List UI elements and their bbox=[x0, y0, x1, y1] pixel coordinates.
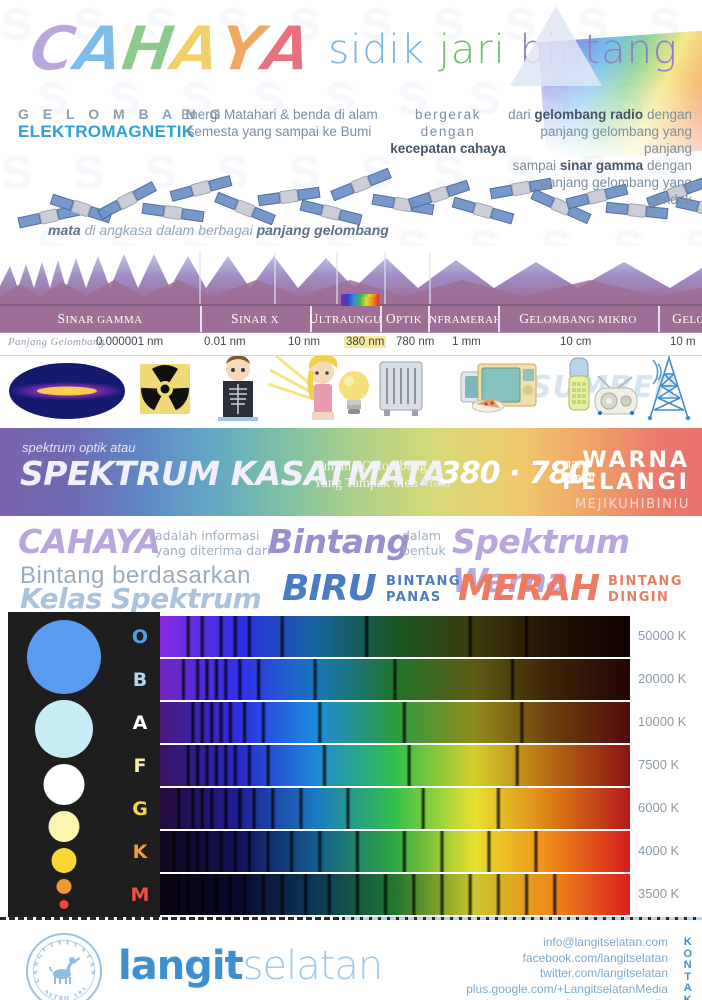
spectral-row-a[interactable]: 10000 K bbox=[160, 702, 630, 743]
seal-char: 1 bbox=[81, 986, 87, 992]
contact-link-0[interactable]: info@langitselatan.com bbox=[466, 935, 668, 951]
title-letter-a3: A bbox=[259, 20, 314, 79]
spectral-band-image-g bbox=[160, 788, 630, 829]
spectral-band-image-f bbox=[160, 745, 630, 786]
radiation-hazard-icon bbox=[140, 364, 190, 419]
adalah-l1: adalah informasi bbox=[155, 528, 271, 543]
seal-char: N bbox=[89, 970, 95, 975]
seal-char: N bbox=[34, 961, 41, 967]
contact-links: info@langitselatan.comfacebook.com/langi… bbox=[466, 935, 668, 1000]
em-band-segment-label: SINAR GAMMA bbox=[58, 311, 143, 327]
spectral-class-letter-m: M bbox=[120, 884, 160, 906]
page-subtitle: sidik jari bintang bbox=[328, 27, 678, 73]
em-band-segment-o3[interactable]: OPTIK bbox=[380, 306, 430, 332]
visible-spectrum-lead: spektrum optik atau bbox=[22, 440, 135, 455]
em-band-segment-label: ULTRAUNGU bbox=[310, 311, 381, 327]
wavelength-label-1: 0.01 nm bbox=[204, 336, 246, 348]
contact-link-2[interactable]: twitter.com/langitselatan bbox=[466, 966, 668, 982]
statement-adalah-informasi: adalah informasi yang diterima dari bbox=[155, 528, 271, 558]
intro-copy: G E L O M B A N G ELEKTROMAGNETIK Energi… bbox=[0, 96, 702, 176]
visible-spectrum-banner: spektrum optik atau SPEKTRUM KASATMATA P… bbox=[0, 428, 702, 516]
spectral-band-rows: 50000 K20000 K10000 K7500 K6000 K4000 K3… bbox=[160, 616, 630, 917]
brand-langit: langit bbox=[118, 943, 243, 989]
subtitle-jari: jari bbox=[439, 27, 520, 73]
dingin-l1: BINTANG bbox=[608, 574, 683, 590]
satellite-solar-panel bbox=[258, 192, 281, 206]
spectral-row-g[interactable]: 6000 K bbox=[160, 788, 630, 829]
em-band-segment-g5[interactable]: GELOMBANG MIKRO bbox=[498, 306, 660, 332]
wavelength-label-7: 10 m bbox=[670, 336, 696, 348]
seal-char: 0 bbox=[78, 990, 84, 997]
contact-link-3[interactable]: plus.google.com/+LangitselatanMedia bbox=[466, 982, 668, 998]
kontak-char: K bbox=[683, 937, 692, 949]
intro-col4-c: dengan bbox=[643, 107, 692, 122]
caption-mata-di-angkasa: mata di angkasa dalam berbagai panjang g… bbox=[48, 222, 389, 238]
temperature-label-m: 3500 K bbox=[638, 886, 679, 901]
title-letter-c: C bbox=[26, 20, 79, 79]
satellite-icon bbox=[141, 202, 204, 224]
footer: LANGITSELATANASTRO 101 langitselatan inf… bbox=[0, 917, 702, 1000]
temperature-label-a: 10000 K bbox=[638, 714, 686, 729]
satellite-solar-panel bbox=[372, 194, 396, 209]
temperature-label-g: 6000 K bbox=[638, 800, 679, 815]
em-band-segment-s1[interactable]: SINAR X bbox=[200, 306, 312, 332]
satellite-body bbox=[163, 205, 183, 220]
kontak-char: A bbox=[683, 983, 692, 995]
mejikuhibiniu-label: MEJIKUHIBINIU bbox=[562, 494, 690, 516]
satellite-solar-panel bbox=[297, 187, 320, 201]
spectral-row-b[interactable]: 20000 K bbox=[160, 659, 630, 700]
seal-char: A bbox=[88, 961, 95, 967]
x-ray-patient-icon bbox=[210, 356, 266, 427]
intro-col2-line2: semesta yang sampai ke Bumi bbox=[172, 123, 387, 140]
statement-biru: BIRU bbox=[282, 568, 376, 609]
dingin-l2: DINGIN bbox=[608, 590, 683, 606]
star-size-g bbox=[52, 848, 77, 873]
seal-char: E bbox=[66, 940, 71, 947]
em-band-segment-label: SINAR X bbox=[231, 311, 279, 327]
spectral-class-chart: OBAFGKM 50000 K20000 K10000 K7500 K6000 … bbox=[0, 612, 702, 917]
header: C A H A Y A sidik jari bintang bbox=[0, 0, 702, 96]
warna-line1: WARNA bbox=[562, 450, 690, 472]
statement-bintang-panas: BINTANG PANAS bbox=[386, 574, 461, 606]
spectral-row-m[interactable]: 3500 K bbox=[160, 874, 630, 915]
star-size-o bbox=[27, 620, 101, 694]
spectral-band-image-a bbox=[160, 702, 630, 743]
seal-text-ring: LANGITSELATANASTRO 101 bbox=[28, 935, 100, 1000]
caption-mata: mata bbox=[48, 222, 85, 238]
statement-bintang: Bintang bbox=[268, 522, 410, 561]
spectral-class-letter-k: K bbox=[120, 841, 160, 863]
intro-col3-line2: kecepatan cahaya bbox=[390, 141, 506, 156]
dalam-l2: bentuk bbox=[402, 543, 446, 558]
panas-l1: BINTANG bbox=[386, 574, 461, 590]
intro-col4-gelombang-radio: gelombang radio bbox=[534, 107, 643, 122]
statement-merah: MERAH bbox=[458, 568, 599, 609]
spectral-band-image-k bbox=[160, 831, 630, 872]
heater-icon bbox=[378, 360, 424, 423]
temperature-label-b: 20000 K bbox=[638, 671, 686, 686]
wavelength-scale-row: Panjang Gelombang 0.000001 nm0.01 nm10 n… bbox=[0, 333, 702, 356]
adalah-l2: yang diterima dari bbox=[155, 543, 271, 558]
satellite-solar-panel bbox=[446, 180, 470, 197]
satellite-solar-panel bbox=[452, 197, 476, 214]
spectral-band-image-b bbox=[160, 659, 630, 700]
seal-char: T bbox=[84, 953, 91, 960]
seal-char: L bbox=[73, 942, 79, 949]
satellite-solar-panel bbox=[181, 208, 204, 222]
satellite-solar-panel bbox=[300, 200, 324, 216]
brand-wordmark: langitselatan bbox=[118, 943, 382, 989]
intro-col4-a: dari bbox=[508, 107, 534, 122]
em-band-segment-label: GELOMBANG RADIO bbox=[672, 311, 702, 327]
warna-pelangi-block: WARNA PELANGI MEJIKUHIBINIU bbox=[562, 450, 690, 516]
title-letter-a1: A bbox=[70, 20, 125, 79]
optical-rainbow-marker bbox=[341, 297, 379, 306]
em-band-segment-label: OPTIK bbox=[386, 311, 422, 327]
caption-panjang-gelombang: panjang gelombang bbox=[257, 222, 389, 238]
dalam-l1: dalam bbox=[402, 528, 446, 543]
em-band-segment-label: GELOMBANG MIKRO bbox=[519, 311, 637, 327]
seal-char: R bbox=[58, 996, 63, 1000]
spectral-class-letter-b: B bbox=[120, 669, 160, 691]
satellite-icon bbox=[451, 196, 514, 226]
radio-receiver-icon bbox=[592, 376, 640, 423]
visible-spectrum-definition: Panjang Gelombang Yang Tampak oleh Mata bbox=[313, 458, 450, 492]
temperature-label-k: 4000 K bbox=[638, 843, 679, 858]
seal-char: G bbox=[37, 953, 45, 960]
wavelength-label-0: 0.000001 nm bbox=[96, 336, 163, 348]
star-size-k bbox=[57, 879, 72, 894]
spectral-band-image-o bbox=[160, 616, 630, 657]
em-band-segment-s0[interactable]: SINAR GAMMA bbox=[0, 306, 202, 332]
pg-line1: Panjang Gelombang bbox=[313, 458, 450, 475]
subtitle-sidik: sidik bbox=[328, 27, 438, 73]
contact-link-1[interactable]: facebook.com/langitselatan bbox=[466, 951, 668, 967]
satellite-solar-panel bbox=[142, 203, 165, 217]
spectral-row-k[interactable]: 4000 K bbox=[160, 831, 630, 872]
wavelength-label-3: 380 nm bbox=[344, 336, 386, 348]
sun-tanning-person-icon bbox=[268, 352, 346, 427]
source-icon-row: SUMBER bbox=[0, 356, 702, 428]
em-band-segment-i4[interactable]: INFRAMERAH bbox=[428, 306, 500, 332]
intro-col2-line1: Energi Matahari & benda di alam bbox=[172, 106, 387, 123]
spectral-class-letter-f: F bbox=[120, 755, 160, 777]
infographic-page: ssssssssssssssssssssssssssssssssssssssss… bbox=[0, 0, 702, 1000]
star-size-a bbox=[44, 764, 85, 805]
satellite-solar-panel bbox=[490, 208, 514, 225]
mobile-phone-icon bbox=[566, 356, 592, 417]
seal-char: A bbox=[79, 947, 86, 954]
intro-col4-dengan: dengan bbox=[643, 158, 692, 173]
wavelength-wave-illustration bbox=[0, 246, 702, 304]
spectral-class-letters-column: OBAFGKM bbox=[120, 612, 160, 917]
em-band-segment-g6[interactable]: GELOMBANG RADIO bbox=[658, 306, 702, 332]
page-title: C A H A Y A bbox=[30, 20, 310, 79]
wavelength-caption: Panjang Gelombang bbox=[8, 336, 104, 348]
satellite-solar-panel bbox=[208, 175, 232, 191]
star-size-column bbox=[8, 612, 120, 917]
statement-dalam-bentuk: dalam bentuk bbox=[402, 528, 446, 558]
kontak-vertical-label: KONTAK bbox=[683, 937, 692, 1000]
em-band-segment-label: INFRAMERAH bbox=[428, 311, 500, 327]
langitselatan-seal-logo: LANGITSELATANASTRO 101 bbox=[26, 933, 102, 1000]
seal-char: 1 bbox=[73, 993, 78, 1000]
spectral-band-image-m bbox=[160, 874, 630, 915]
seal-char: S bbox=[57, 940, 61, 946]
satellite-solar-panel bbox=[170, 186, 194, 202]
brand-selatan: selatan bbox=[243, 943, 383, 989]
seal-char: T bbox=[49, 942, 55, 949]
footer-divider-light bbox=[345, 917, 702, 920]
star-size-m bbox=[60, 900, 69, 909]
wavelength-label-4: 780 nm bbox=[396, 336, 434, 348]
pg-line2a: Yang Tampak oleh bbox=[313, 476, 421, 491]
prism-icon bbox=[510, 6, 602, 86]
statements-block: CAHAYA adalah informasi yang diterima da… bbox=[0, 516, 702, 612]
statement-kelas-spektrum: Kelas Spektrum bbox=[20, 582, 261, 615]
radio-tower-icon bbox=[640, 354, 698, 429]
intro-col4-sinar-gamma: sinar gamma bbox=[560, 158, 643, 173]
seal-char: T bbox=[53, 994, 59, 1000]
seal-char: L bbox=[34, 978, 41, 984]
statement-cahaya: CAHAYA bbox=[18, 522, 160, 561]
temperature-label-o: 50000 K bbox=[638, 628, 686, 643]
spectral-row-f[interactable]: 7500 K bbox=[160, 745, 630, 786]
spectral-class-letter-o: O bbox=[120, 626, 160, 648]
satellite-solar-panel bbox=[132, 181, 157, 201]
satellite-solar-panel bbox=[18, 213, 42, 228]
wavelength-label-2: 10 nm bbox=[288, 336, 320, 348]
microwave-oven-icon bbox=[472, 360, 538, 423]
spectral-class-letter-g: G bbox=[120, 798, 160, 820]
intro-col4-line2: panjang gelombang yang panjang bbox=[508, 123, 692, 157]
wavelength-label-5: 1 mm bbox=[452, 336, 481, 348]
seal-char: O bbox=[64, 996, 69, 1000]
light-bulb-icon bbox=[336, 368, 372, 421]
em-spectrum-band: SINAR GAMMASINAR XULTRAUNGUOPTIKINFRAMER… bbox=[0, 304, 702, 333]
spectral-row-o[interactable]: 50000 K bbox=[160, 616, 630, 657]
wavelength-label-6: 10 cm bbox=[560, 336, 591, 348]
seal-char: I bbox=[41, 947, 47, 953]
em-band-segment-u2[interactable]: ULTRAUNGU bbox=[310, 306, 382, 332]
intro-col4-sampai: sampai bbox=[513, 158, 560, 173]
temperature-label-f: 7500 K bbox=[638, 757, 679, 772]
seal-char: A bbox=[33, 970, 39, 975]
statement-bintang-dingin: BINTANG DINGIN bbox=[608, 574, 683, 606]
caption-di-angkasa: di angkasa dalam berbagai bbox=[85, 222, 257, 238]
satellite-body bbox=[279, 189, 299, 204]
kontak-char: N bbox=[683, 960, 692, 972]
spectral-class-letter-a: A bbox=[120, 712, 160, 734]
gamma-ray-sky-map-icon bbox=[8, 362, 126, 425]
kontak-char: K bbox=[683, 995, 692, 1000]
warna-line2: PELANGI bbox=[562, 472, 690, 494]
panas-l2: PANAS bbox=[386, 590, 461, 606]
intro-col4-line4: panjang gelombang yang pendek bbox=[508, 174, 692, 208]
star-size-f bbox=[49, 811, 80, 842]
star-size-b bbox=[35, 700, 93, 758]
title-letter-h: H bbox=[117, 20, 176, 79]
intro-col3-line1: bergerak dengan bbox=[388, 106, 508, 140]
